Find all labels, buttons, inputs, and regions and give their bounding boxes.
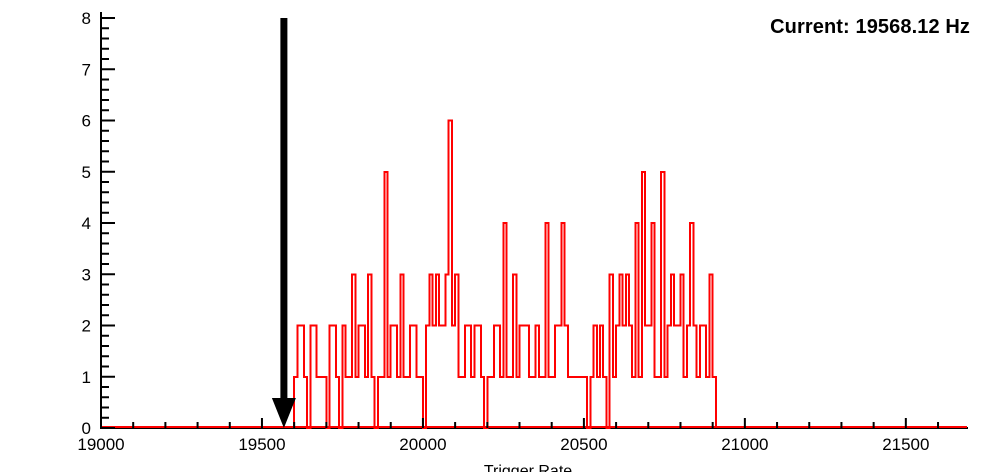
x-tick-label: 19500	[238, 435, 285, 454]
x-tick-label: 20500	[560, 435, 607, 454]
plot-frame	[100, 12, 968, 428]
x-tick-label: 19000	[77, 435, 124, 454]
x-tick-label: 20000	[399, 435, 446, 454]
y-tick-label: 6	[82, 112, 91, 131]
y-tick-label: 2	[82, 317, 91, 336]
y-tick-label: 8	[82, 9, 91, 28]
x-tick-label: 21500	[882, 435, 929, 454]
root-canvas: 012345678190001950020000205002100021500T…	[0, 0, 996, 472]
y-tick-label: 4	[82, 214, 91, 233]
current-rate-title: Current: 19568.12 Hz	[770, 16, 970, 39]
x-tick-label: 21000	[721, 435, 768, 454]
histogram-plot: 012345678190001950020000205002100021500T…	[0, 0, 996, 472]
histogram-curve	[101, 121, 967, 429]
arrow-head	[272, 398, 296, 428]
x-axis-title: Trigger Rate	[484, 463, 572, 472]
y-tick-label: 7	[82, 60, 91, 79]
current-rate-arrow	[272, 18, 296, 428]
y-tick-label: 1	[82, 368, 91, 387]
y-tick-label: 3	[82, 265, 91, 284]
y-tick-label: 5	[82, 163, 91, 182]
